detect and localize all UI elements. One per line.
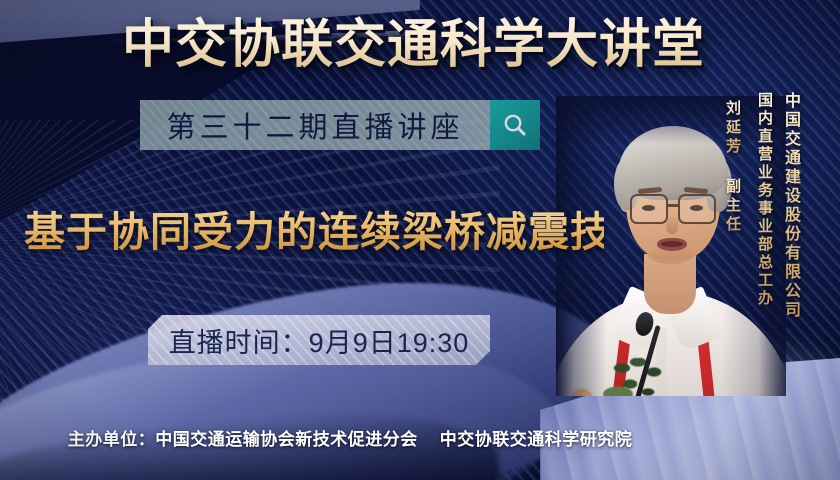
speaker-name: 刘延芳 [722,100,743,157]
speaker-hair [618,126,728,200]
broadcast-time-text: 直播时间：9月9日19:30 [148,315,490,365]
page-title: 中交协联交通科学大讲堂 [122,14,722,76]
session-label: 第三十二期直播讲座 [140,100,490,150]
speaker-chin-shadow [648,246,694,264]
speaker-company: 中国交通建设股份有限公司 [778,92,802,320]
live-lecture-poster: 中交协联交通科学大讲堂 第三十二期直播讲座 基于协同受力的连续梁桥减震技术 直播… [0,0,840,480]
speaker-role: 副主任 [722,178,743,235]
speaker-nose [666,214,678,234]
eyeglasses-lens-right [678,194,716,224]
footer-organizers: 主办单位：中国交通运输协会新技术促进分会 中交协联交通科学研究院 [0,424,700,450]
lecture-title: 基于协同受力的连续梁桥减震技术 [24,206,604,258]
speaker-department: 国内直营业务事业部总工办 [754,92,775,308]
session-bar: 第三十二期直播讲座 [140,100,490,150]
podium-flowers [556,372,678,396]
eyeglasses-bridge [668,204,680,207]
search-icon [502,112,528,138]
footer-organizer-primary: 主办单位：中国交通运输协会新技术促进分会 [68,425,418,450]
broadcast-time-chip: 直播时间：9月9日19:30 [148,315,490,365]
search-button[interactable] [490,100,540,150]
footer-organizer-secondary: 中交协联交通科学研究院 [440,425,633,450]
